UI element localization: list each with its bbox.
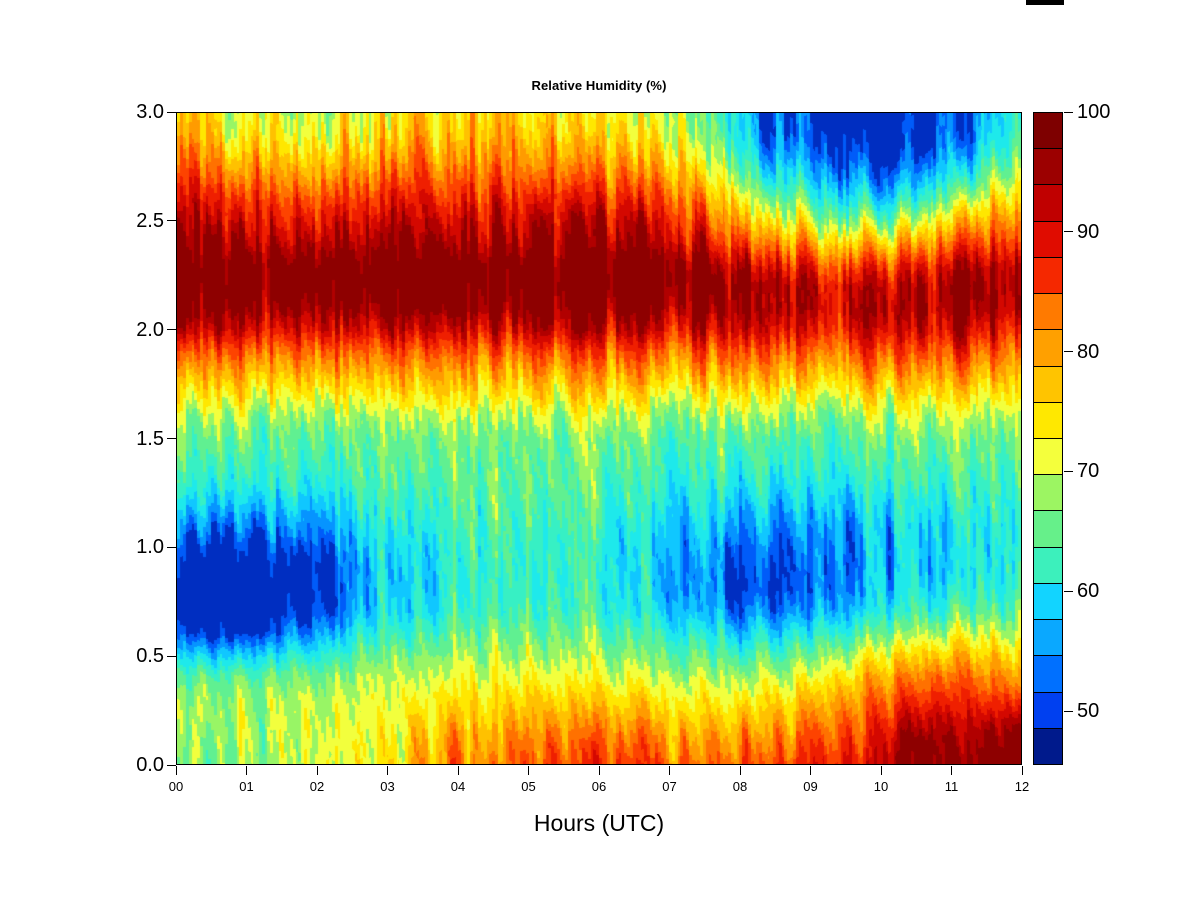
colorbar-tick-mark xyxy=(1064,231,1073,232)
colorbar-block xyxy=(1034,222,1062,258)
colorbar-block xyxy=(1034,693,1062,729)
y-tick-label: 1.5 xyxy=(136,429,164,449)
x-tick-mark xyxy=(740,766,741,775)
colorbar-block xyxy=(1034,113,1062,149)
colorbar-tick-label: 50 xyxy=(1077,701,1099,721)
x-tick-mark xyxy=(810,766,811,775)
colorbar-tick-label: 60 xyxy=(1077,581,1099,601)
x-tick-mark xyxy=(951,766,952,775)
y-tick-mark xyxy=(167,656,176,657)
colorbar-tick-label: 100 xyxy=(1077,102,1110,122)
x-tick-mark xyxy=(317,766,318,775)
x-tick-label: 07 xyxy=(650,780,690,793)
colorbar-block xyxy=(1034,584,1062,620)
colorbar-block xyxy=(1034,475,1062,511)
x-tick-label: 02 xyxy=(297,780,337,793)
colorbar-block xyxy=(1034,439,1062,475)
colorbar-block xyxy=(1034,729,1062,764)
y-tick-mark xyxy=(167,547,176,548)
colorbar[interactable] xyxy=(1033,112,1063,765)
cropped-black-bar-artifact xyxy=(1026,0,1064,5)
colorbar-block xyxy=(1034,294,1062,330)
x-tick-label: 08 xyxy=(720,780,760,793)
colorbar-tick-mark xyxy=(1064,112,1073,113)
x-tick-mark xyxy=(528,766,529,775)
colorbar-tick-mark xyxy=(1064,711,1073,712)
colorbar-block xyxy=(1034,185,1062,221)
colorbar-block xyxy=(1034,511,1062,547)
colorbar-block xyxy=(1034,403,1062,439)
colorbar-tick-mark xyxy=(1064,591,1073,592)
x-tick-mark xyxy=(1022,766,1023,775)
relative-humidity-heatmap xyxy=(177,113,1021,764)
y-tick-mark xyxy=(167,329,176,330)
colorbar-block xyxy=(1034,149,1062,185)
x-tick-label: 03 xyxy=(368,780,408,793)
x-tick-label: 11 xyxy=(932,780,972,793)
x-axis-title: Hours (UTC) xyxy=(176,810,1022,836)
colorbar-tick-mark xyxy=(1064,351,1073,352)
colorbar-block xyxy=(1034,258,1062,294)
y-tick-label: 2.5 xyxy=(136,211,164,231)
y-tick-label: 2.0 xyxy=(136,320,164,340)
x-tick-label: 12 xyxy=(1002,780,1042,793)
colorbar-block xyxy=(1034,548,1062,584)
y-tick-mark xyxy=(167,220,176,221)
x-tick-mark xyxy=(458,766,459,775)
x-tick-mark xyxy=(669,766,670,775)
y-tick-label: 3.0 xyxy=(136,102,164,122)
y-tick-label: 0.0 xyxy=(136,755,164,775)
x-tick-label: 00 xyxy=(156,780,196,793)
colorbar-block xyxy=(1034,330,1062,366)
x-tick-label: 06 xyxy=(579,780,619,793)
x-tick-label: 04 xyxy=(438,780,478,793)
x-tick-mark xyxy=(176,766,177,775)
colorbar-block xyxy=(1034,367,1062,403)
colorbar-tick-label: 90 xyxy=(1077,222,1099,242)
y-tick-mark xyxy=(167,112,176,113)
colorbar-block xyxy=(1034,656,1062,692)
x-tick-mark xyxy=(599,766,600,775)
x-tick-label: 01 xyxy=(227,780,267,793)
x-tick-mark xyxy=(387,766,388,775)
colorbar-block xyxy=(1034,620,1062,656)
x-tick-mark xyxy=(881,766,882,775)
x-tick-label: 05 xyxy=(509,780,549,793)
heatmap-plot-area[interactable] xyxy=(176,112,1022,765)
colorbar-tick-mark xyxy=(1064,471,1073,472)
y-tick-label: 0.5 xyxy=(136,646,164,666)
y-tick-label: 1.0 xyxy=(136,537,164,557)
colorbar-tick-label: 70 xyxy=(1077,461,1099,481)
x-tick-label: 10 xyxy=(861,780,901,793)
colorbar-tick-label: 80 xyxy=(1077,342,1099,362)
x-tick-mark xyxy=(246,766,247,775)
page-title: Relative Humidity (%) xyxy=(176,78,1022,93)
x-tick-label: 09 xyxy=(791,780,831,793)
y-tick-mark xyxy=(167,438,176,439)
